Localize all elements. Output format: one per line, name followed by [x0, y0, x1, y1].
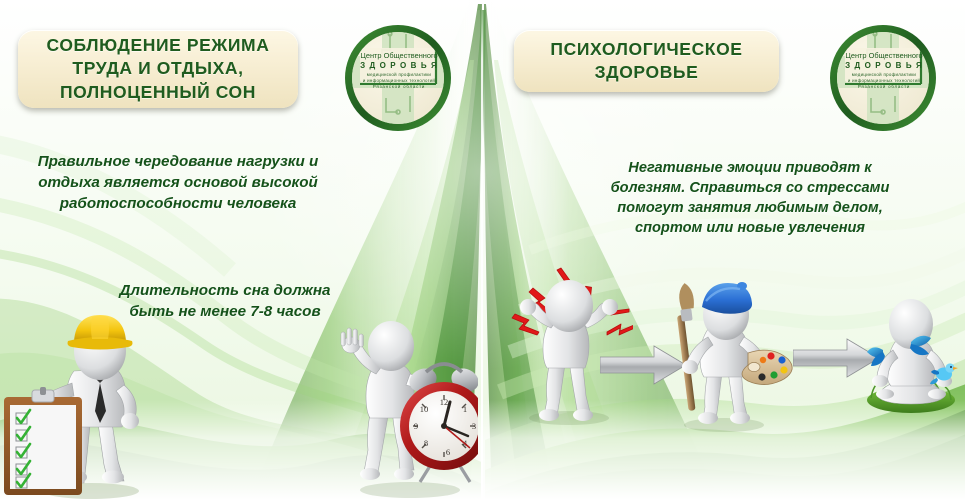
figure-stressed-with-lightning [503, 262, 633, 427]
organization-logo-right: Центр Общественного З Д О Р О В Ь Я меди… [823, 22, 947, 134]
figure-painter-with-palette [650, 275, 800, 433]
beret [702, 282, 752, 314]
organization-logo-left: Центр Общественного З Д О Р О В Ь Я меди… [338, 22, 462, 134]
svg-text:12: 12 [440, 397, 449, 407]
logo-line-5: Рязанской области [858, 84, 910, 89]
logo-line-5: Рязанской области [373, 84, 425, 89]
logo-line-3: медицинской профилактики [852, 72, 917, 77]
clipboard [4, 387, 82, 495]
panel-divider [481, 0, 483, 500]
logo-line-4: и информационных технологий [848, 78, 921, 83]
logo-line-2: З Д О Р О В Ь Я [360, 61, 438, 70]
paint-palette [742, 350, 792, 384]
figure-worker-with-checklist [0, 305, 166, 500]
logo-line-3: медицинской профилактики [367, 72, 432, 77]
svg-text:9: 9 [414, 421, 418, 431]
figure-meditating-with-butterflies [855, 288, 965, 416]
figure-waving-with-alarm-clock: 1213 468 910 [338, 318, 478, 500]
svg-text:10: 10 [420, 404, 429, 414]
logo-line-4: и информационных технологий [363, 78, 436, 83]
poster-root: СОБЛЮДЕНИЕ РЕЖИМА ТРУДА И ОТДЫХА, ПОЛНОЦ… [0, 0, 965, 500]
svg-text:1: 1 [463, 404, 467, 414]
logo-line-1: Центр Общественного [845, 51, 922, 60]
paragraph-psychological-health: Негативные эмоции приводят к болезням. С… [600, 158, 900, 239]
svg-text:6: 6 [446, 447, 450, 457]
banner-left-text: СОБЛЮДЕНИЕ РЕЖИМА ТРУДА И ОТДЫХА, ПОЛНОЦ… [47, 34, 270, 103]
banner-right-title: ПСИХОЛОГИЧЕСКОЕ ЗДОРОВЬЕ [514, 30, 779, 92]
head [368, 321, 414, 371]
svg-text:3: 3 [472, 421, 476, 431]
callout-sleep-duration: Длительность сна должна быть не менее 7-… [100, 281, 350, 323]
banner-left-title: СОБЛЮДЕНИЕ РЕЖИМА ТРУДА И ОТДЫХА, ПОЛНОЦ… [18, 30, 298, 108]
logo-line-2: З Д О Р О В Ь Я [845, 61, 923, 70]
head [545, 280, 593, 332]
logo-line-1: Центр Общественного [360, 51, 437, 60]
paragraph-work-rest: Правильное чередование нагрузки и отдыха… [28, 152, 328, 215]
banner-right-text: ПСИХОЛОГИЧЕСКОЕ ЗДОРОВЬЕ [550, 38, 742, 84]
paintbrush [677, 282, 696, 411]
svg-text:8: 8 [424, 438, 428, 448]
